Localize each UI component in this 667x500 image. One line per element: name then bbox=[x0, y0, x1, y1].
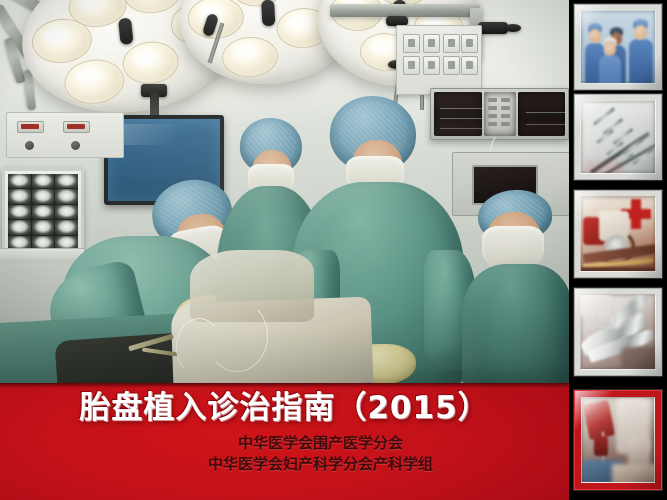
boom-knob bbox=[505, 24, 521, 32]
thumbnail-sidebar bbox=[569, 0, 667, 500]
boom-knob bbox=[478, 22, 508, 34]
vitals-screen-left bbox=[434, 92, 482, 136]
thumbnail-steel-instruments[interactable] bbox=[574, 288, 662, 376]
xray-film bbox=[32, 205, 55, 219]
xray-film bbox=[8, 205, 31, 219]
credit-line-2: 中华医学会妇产科学分会产科学组 bbox=[0, 454, 569, 475]
thumbnail-image bbox=[580, 10, 656, 84]
lightbox-shelf bbox=[0, 248, 84, 261]
page-title: 胎盘植入诊治指南（2015） bbox=[0, 385, 569, 431]
xray-film bbox=[32, 220, 55, 234]
thumbnail-surgical-sutures[interactable] bbox=[574, 94, 662, 180]
wall-switch-panel bbox=[6, 112, 124, 158]
thumbnail-red-cross-stethoscope[interactable] bbox=[574, 190, 662, 278]
xray-film bbox=[8, 174, 31, 188]
thumbnail-image bbox=[580, 100, 656, 174]
title-banner: 胎盘植入诊治指南（2015） 中华医学会围产医学分会 中华医学会妇产科学分会产科… bbox=[0, 383, 569, 500]
xray-film bbox=[55, 205, 78, 219]
thumbnail-image bbox=[581, 397, 655, 483]
light-handle bbox=[261, 0, 275, 26]
credit-line-1: 中华医学会围产医学分会 bbox=[0, 433, 569, 454]
light-handle bbox=[118, 18, 134, 45]
xray-film bbox=[8, 220, 31, 234]
thumbnail-surgical-team[interactable] bbox=[574, 4, 662, 90]
blood-bag bbox=[583, 400, 616, 441]
presentation-slide: 胎盘植入诊治指南（2015） 中华医学会围产医学分会 中华医学会妇产科学分会产科… bbox=[0, 0, 667, 500]
xray-film bbox=[8, 189, 31, 203]
xray-film bbox=[55, 174, 78, 188]
ceiling-boom-arm bbox=[330, 4, 480, 17]
vitals-screen-right bbox=[518, 92, 566, 136]
xray-film bbox=[32, 189, 55, 203]
xray-film bbox=[55, 189, 78, 203]
xray-lightbox bbox=[2, 168, 84, 256]
xray-film bbox=[32, 174, 55, 188]
thumbnail-iv-transfusion[interactable] bbox=[574, 390, 662, 490]
vitals-keypad[interactable] bbox=[484, 92, 516, 136]
surgical-gown bbox=[462, 264, 569, 385]
thumbnail-image bbox=[580, 294, 656, 370]
xray-film bbox=[55, 220, 78, 234]
organization-credits: 中华医学会围产医学分会 中华医学会妇产科学分会产科学组 bbox=[0, 433, 569, 475]
xray-film-grid bbox=[8, 174, 78, 250]
wall-socket-panel bbox=[396, 25, 482, 95]
suction-tubing bbox=[206, 300, 268, 372]
operating-room-photo bbox=[0, 0, 569, 385]
thumbnail-image bbox=[580, 196, 656, 272]
